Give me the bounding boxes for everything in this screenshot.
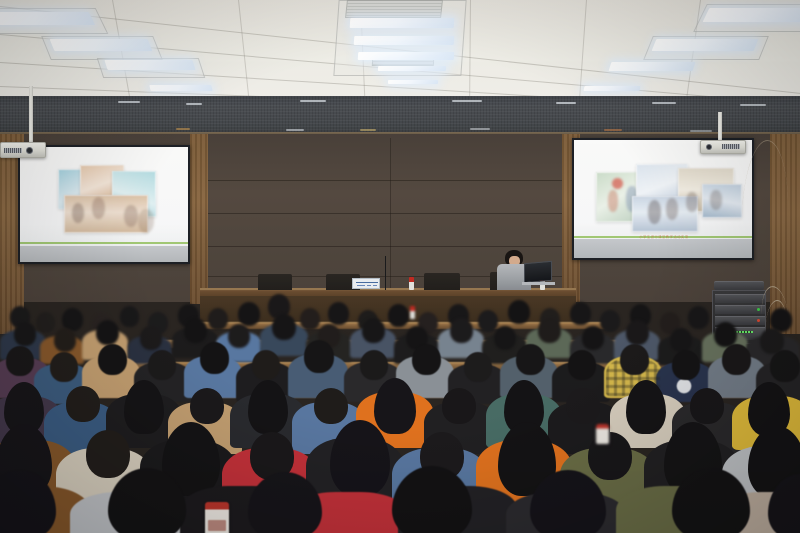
ceiling-light-panel	[354, 36, 455, 45]
ceiling-light-panel	[378, 66, 446, 71]
water-bottle	[409, 277, 414, 290]
ceiling-light-panel	[583, 86, 640, 91]
ceiling-light-panel	[358, 52, 455, 60]
ceiling-light-panel	[149, 85, 212, 91]
ceiling-light-panel	[0, 12, 95, 25]
laptop	[524, 261, 552, 283]
slide-photo	[702, 184, 742, 218]
slide-caption: 小学生进行课堂教学活动实录	[602, 234, 726, 239]
projector-lens-icon	[706, 144, 712, 150]
ceiling-light-panel	[703, 8, 800, 22]
left-projection-screen	[18, 145, 190, 264]
ceiling-light-panel	[50, 39, 153, 51]
ceiling-light-panel	[388, 80, 438, 84]
lecture-hall-photo: 小学生进行课堂教学活动实录	[0, 0, 800, 533]
projector-lens-icon	[26, 147, 33, 154]
table-microphone	[385, 256, 386, 290]
stage-chair[interactable]	[258, 274, 292, 290]
right-projection-screen: 小学生进行课堂教学活动实录	[572, 138, 754, 260]
power-indicator-icon	[757, 308, 760, 311]
ceiling-light-panel	[609, 62, 696, 71]
power-indicator-icon	[757, 319, 760, 322]
table-nameplate	[352, 278, 380, 289]
thermos-flask	[205, 502, 229, 533]
ceiling-light-panel	[104, 60, 195, 70]
ceiling-light-panel	[652, 39, 759, 51]
stage-chair[interactable]	[424, 273, 460, 290]
water-bottle	[410, 306, 415, 319]
wood-wall-panel-center-left	[190, 134, 208, 304]
ceiling-light-panel	[350, 18, 455, 28]
thermos-flask	[596, 424, 609, 444]
